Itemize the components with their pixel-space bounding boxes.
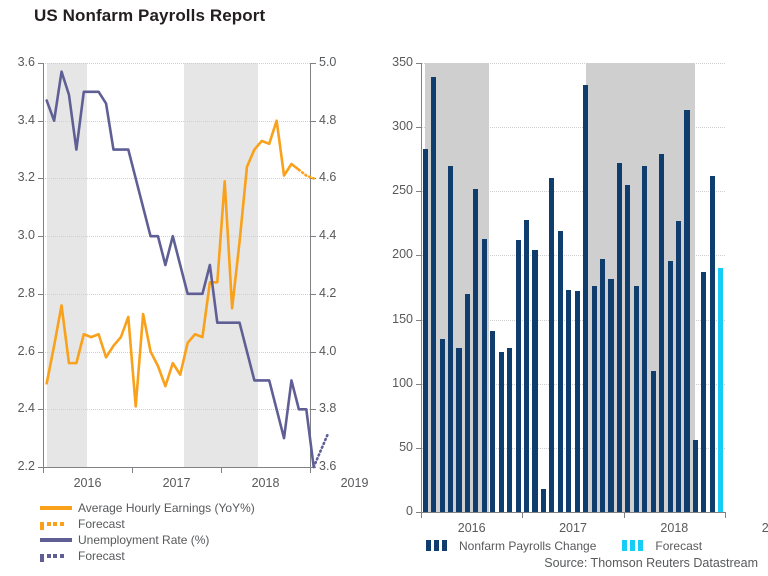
- legend-bar: [638, 540, 643, 551]
- payroll-bar: [583, 85, 588, 512]
- right-chart-y-tick: [416, 384, 421, 385]
- right-chart-y-tick: [416, 255, 421, 256]
- payroll-bar: [524, 220, 529, 512]
- right-chart-x-axis: [421, 512, 726, 513]
- payroll-bar: [701, 272, 706, 512]
- right-plot-area: [421, 63, 725, 512]
- right-chart-y-tick: [416, 191, 421, 192]
- right-chart-y-tick: [416, 320, 421, 321]
- payroll-bar: [634, 286, 639, 512]
- legend-bar: [434, 540, 439, 551]
- right-legend: Nonfarm Payrolls ChangeForecast: [426, 540, 728, 552]
- gridline: [421, 191, 725, 192]
- right-chart-y-tick-label: 0: [377, 505, 413, 518]
- payroll-bar: [490, 331, 495, 512]
- payroll-bar: [549, 178, 554, 512]
- payroll-bar: [431, 77, 436, 512]
- payroll-bar: [608, 279, 613, 512]
- payroll-bar: [440, 339, 445, 512]
- right-chart-x-tick: [725, 513, 726, 518]
- payroll-bar: [465, 294, 470, 512]
- right-chart-y-axis: [421, 63, 422, 512]
- right-legend-item: Forecast: [622, 539, 702, 553]
- payroll-bar: [448, 166, 453, 512]
- right-legend-label: Nonfarm Payrolls Change: [459, 539, 596, 553]
- payroll-bar: [532, 250, 537, 512]
- right-chart-y-tick-label: 300: [377, 120, 413, 133]
- legend-bar: [630, 540, 635, 551]
- payroll-bar: [575, 291, 580, 512]
- right-legend-label: Forecast: [655, 539, 702, 553]
- legend-bar: [442, 540, 447, 551]
- payroll-bar: [423, 149, 428, 512]
- payroll-bar: [600, 259, 605, 512]
- right-chart-y-tick-label: 50: [377, 441, 413, 454]
- right-chart-x-tick-label: 2017: [543, 522, 603, 535]
- payroll-bar: [558, 231, 563, 512]
- right-chart-y-tick-label: 100: [377, 377, 413, 390]
- payroll-bar: [642, 166, 647, 512]
- gridline: [421, 63, 725, 64]
- payroll-bar: [668, 261, 673, 512]
- payroll-bar: [541, 489, 546, 512]
- payroll-bar: [507, 348, 512, 512]
- payroll-bar: [718, 268, 723, 512]
- legend-swatch-bars: [622, 540, 648, 551]
- right-chart-panel: 0501001502002503003502016201720182019Non…: [0, 0, 768, 576]
- payroll-bar: [566, 290, 571, 512]
- payroll-bar: [676, 221, 681, 512]
- legend-swatch-bars: [426, 540, 452, 551]
- source-caption: Source: Thomson Reuters Datastream: [544, 556, 758, 570]
- right-chart-x-tick: [421, 513, 422, 518]
- payroll-bar: [456, 348, 461, 512]
- right-chart-x-tick: [522, 513, 523, 518]
- right-chart-y-tick-label: 200: [377, 248, 413, 261]
- payroll-bar: [473, 189, 478, 512]
- right-chart-y-tick: [416, 448, 421, 449]
- payroll-bar: [693, 440, 698, 512]
- legend-bar: [622, 540, 627, 551]
- payroll-bar: [617, 163, 622, 512]
- legend-bar: [426, 540, 431, 551]
- payroll-bar: [659, 154, 664, 512]
- payroll-bar: [516, 240, 521, 512]
- right-chart-y-tick-label: 250: [377, 184, 413, 197]
- right-legend-item: Nonfarm Payrolls Change: [426, 539, 596, 553]
- right-chart-x-tick: [624, 513, 625, 518]
- payroll-bar: [482, 239, 487, 512]
- right-chart-x-tick-label: 2019: [746, 522, 768, 535]
- gridline: [421, 127, 725, 128]
- payroll-bar: [499, 352, 504, 512]
- payroll-bar: [625, 185, 630, 512]
- right-chart-y-tick-label: 150: [377, 313, 413, 326]
- payroll-bar: [592, 286, 597, 512]
- payroll-bar: [651, 371, 656, 512]
- right-chart-y-tick: [416, 63, 421, 64]
- right-chart-x-tick-label: 2016: [442, 522, 502, 535]
- payroll-bar: [684, 110, 689, 512]
- right-chart-y-tick-label: 350: [377, 56, 413, 69]
- right-chart-y-tick: [416, 127, 421, 128]
- right-chart-x-tick-label: 2018: [644, 522, 704, 535]
- payroll-bar: [710, 176, 715, 512]
